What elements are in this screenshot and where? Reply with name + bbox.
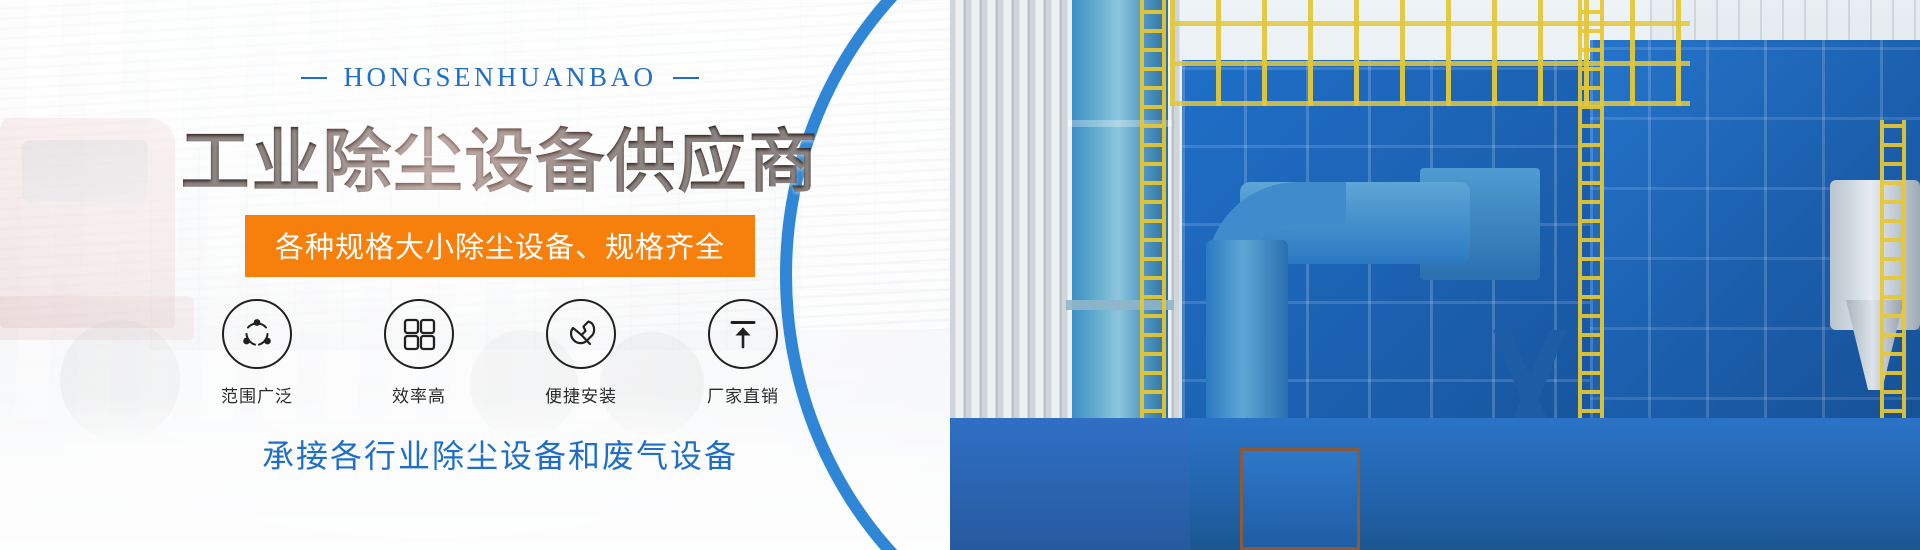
dash-left-icon [301, 77, 327, 79]
brand-eyebrow: HONGSENHUANBAO [301, 62, 698, 93]
feature-icon-circle [546, 299, 616, 369]
feature-item-installation[interactable]: 便捷安装 [529, 299, 633, 407]
feature-item-factory-direct[interactable]: 厂家直销 [691, 299, 795, 407]
feature-label: 厂家直销 [707, 382, 779, 407]
feature-label: 便捷安装 [545, 382, 617, 407]
feature-icon-circle [222, 299, 292, 369]
brand-name: HONGSENHUANBAO [343, 62, 656, 93]
dash-right-icon [673, 77, 699, 79]
hero-banner: HONGSENHUANBAO 工业除尘设备供应商 各种规格大小除尘设备、规格齐全 [0, 0, 1920, 550]
page-title: 工业除尘设备供应商 [181, 105, 820, 205]
feature-label: 范围广泛 [221, 382, 293, 407]
arrow-up-to-line-icon [724, 315, 762, 353]
feature-icon-circle [708, 299, 778, 369]
feature-item-scope[interactable]: 范围广泛 [205, 299, 309, 407]
grid-four-squares-icon [400, 315, 438, 353]
feature-list: 范围广泛 效率高 [205, 299, 795, 407]
feature-item-efficiency[interactable]: 效率高 [367, 299, 471, 407]
wrench-icon [561, 314, 601, 354]
access-door [1240, 448, 1360, 550]
feature-label: 效率高 [392, 382, 446, 407]
roof-scaffolding [1170, 0, 1690, 106]
tagline: 承接各行业除尘设备和废气设备 [262, 431, 738, 477]
hero-content: HONGSENHUANBAO 工业除尘设备供应商 各种规格大小除尘设备、规格齐全 [0, 0, 1000, 550]
ladder [1578, 0, 1604, 470]
subtitle-banner: 各种规格大小除尘设备、规格齐全 [245, 215, 755, 277]
feature-icon-circle [384, 299, 454, 369]
share-nodes-icon [237, 314, 277, 354]
